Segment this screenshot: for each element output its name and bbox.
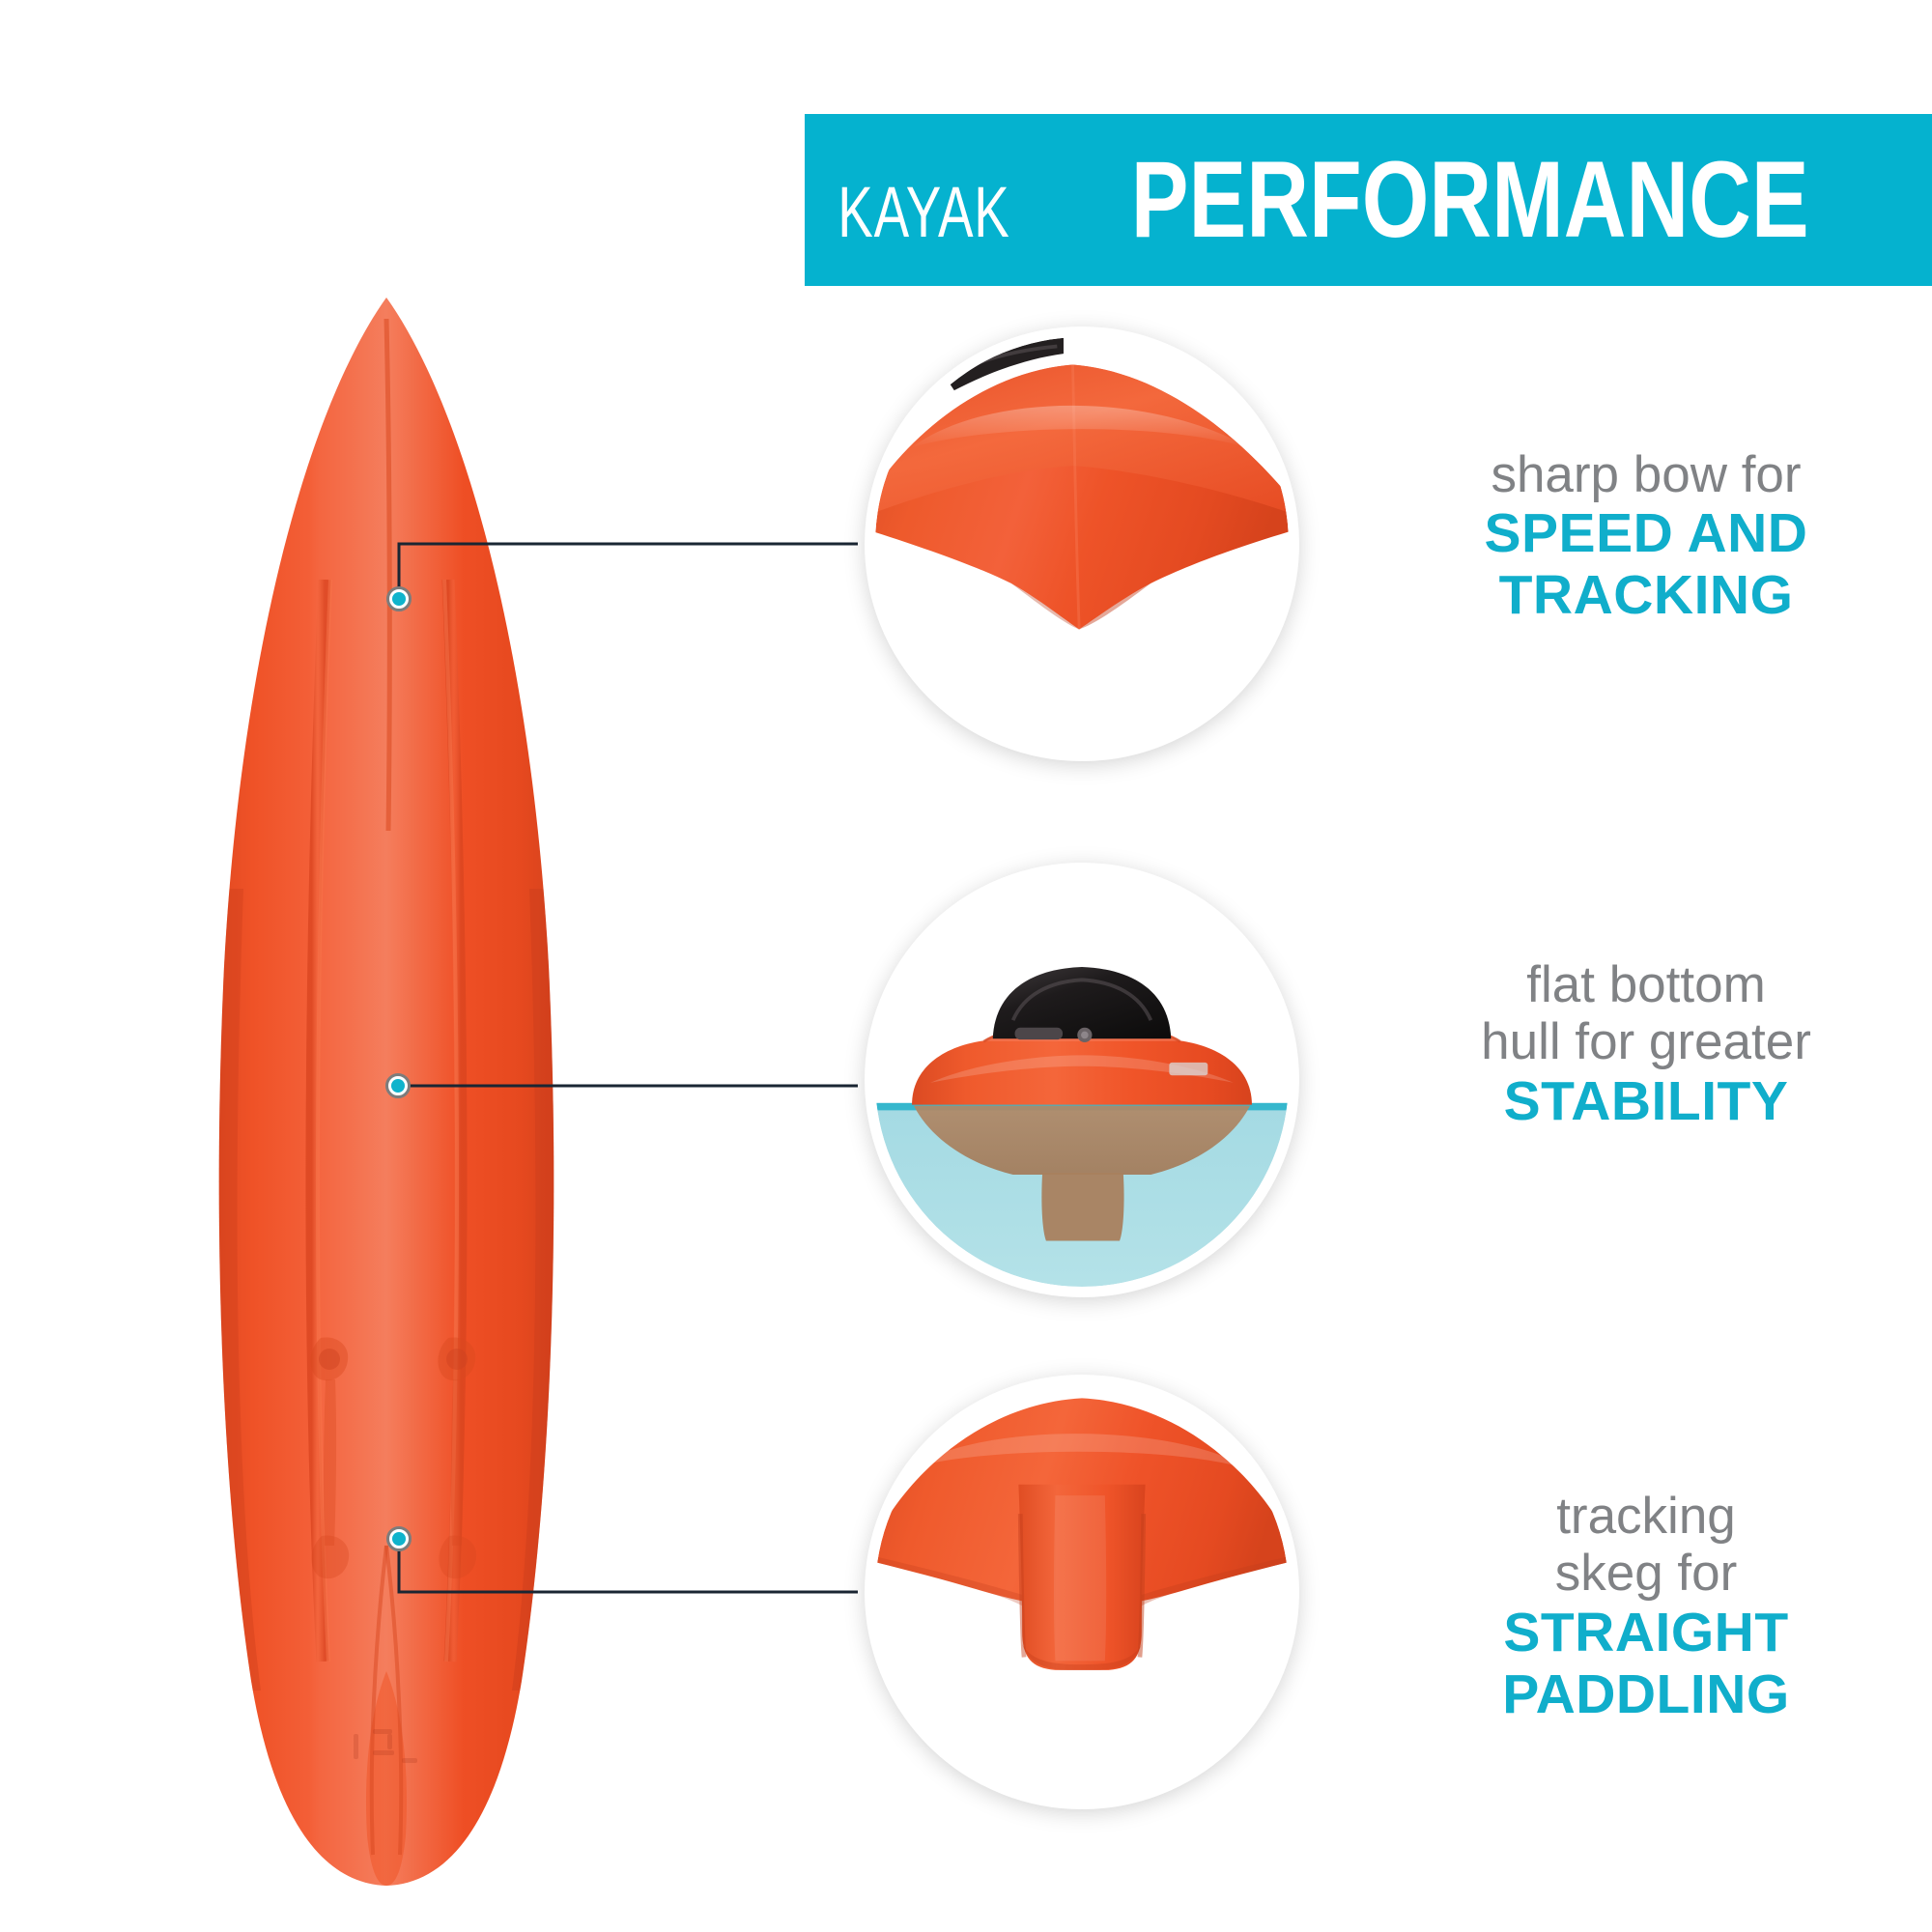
marker-dot-bow[interactable]	[386, 586, 412, 611]
infographic-canvas: KAYAK PERFORMANCE	[0, 0, 1932, 1932]
callout-bow-accent-1: SPEED AND	[1395, 503, 1897, 565]
tracking-skeg-detail-photo	[875, 1385, 1289, 1799]
page-title: KAYAK PERFORMANCE	[808, 146, 1893, 254]
marker-dot-hull[interactable]	[385, 1073, 411, 1098]
callout-circle-skeg[interactable]	[865, 1375, 1299, 1809]
page-title-bold: PERFORMANCE	[1130, 146, 1808, 254]
callout-hull-plain-2: hull for greater	[1395, 1013, 1897, 1070]
callout-bow-accent-2: TRACKING	[1395, 565, 1897, 627]
callout-skeg-plain-2: skeg for	[1395, 1545, 1897, 1602]
callout-circle-bow[interactable]	[865, 327, 1299, 761]
sharp-bow-detail-photo	[875, 337, 1289, 751]
flat-bottom-hull-in-water-photo	[875, 873, 1289, 1287]
callout-skeg-accent-1: STRAIGHT	[1395, 1603, 1897, 1664]
callout-skeg-plain-1: tracking	[1395, 1488, 1897, 1545]
marker-dot-skeg[interactable]	[386, 1526, 412, 1551]
callout-text-hull: flat bottom hull for greater STABILITY	[1395, 956, 1897, 1133]
callout-text-skeg: tracking skeg for STRAIGHT PADDLING	[1395, 1488, 1897, 1725]
callout-text-bow: sharp bow for SPEED AND TRACKING	[1395, 446, 1897, 627]
callout-circle-hull[interactable]	[865, 863, 1299, 1297]
header-banner: KAYAK PERFORMANCE	[805, 114, 1932, 286]
callout-skeg-accent-2: PADDLING	[1395, 1664, 1897, 1726]
callout-bow-plain: sharp bow for	[1395, 446, 1897, 503]
callout-hull-accent-1: STABILITY	[1395, 1071, 1897, 1133]
page-title-light: KAYAK	[838, 177, 1009, 248]
callout-hull-plain-1: flat bottom	[1395, 956, 1897, 1013]
submerged-skeg	[1041, 1173, 1123, 1240]
